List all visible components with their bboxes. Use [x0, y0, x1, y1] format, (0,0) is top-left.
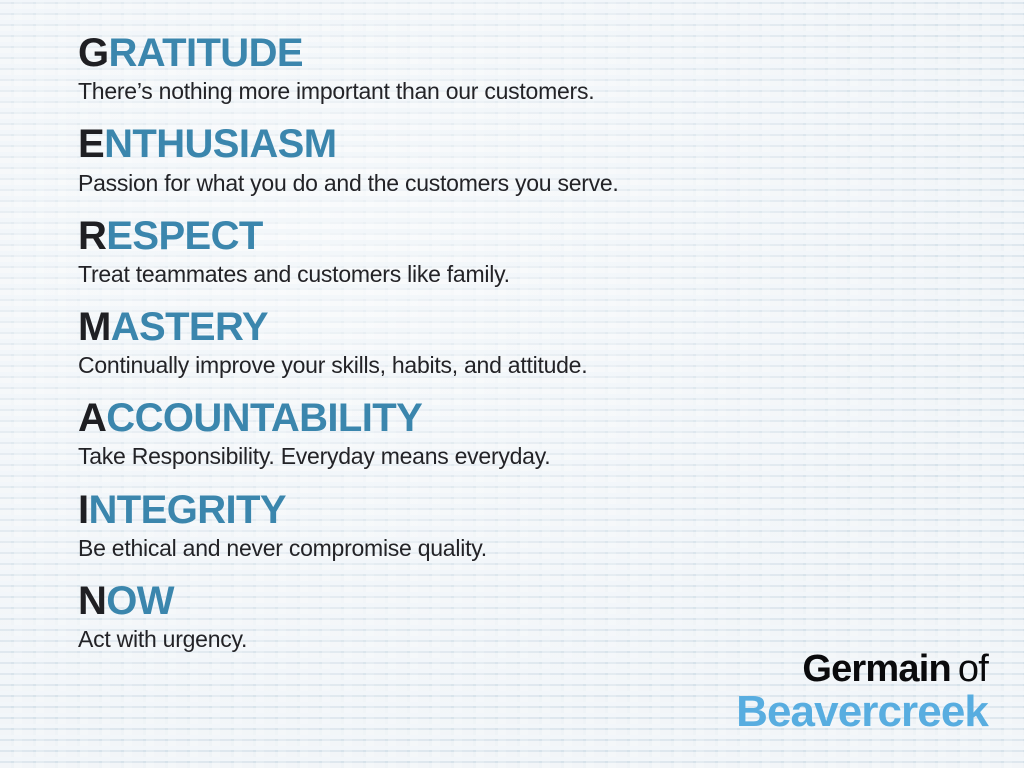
value-rest-letters: RATITUDE [109, 31, 303, 75]
value-description-integrity: Be ethical and never compromise quality. [78, 535, 1024, 562]
value-heading-integrity: INTEGRITY [78, 490, 1024, 531]
value-rest-letters: OW [106, 579, 174, 623]
value-description-gratitude: There’s nothing more important than our … [78, 78, 1024, 105]
value-heading-now: NOW [78, 581, 1024, 622]
value-lead-letter: E [78, 122, 104, 166]
value-rest-letters: ASTERY [111, 305, 268, 349]
logo-location-name: Beavercreek [736, 690, 988, 734]
value-lead-letter: I [78, 488, 89, 532]
value-block-accountability: ACCOUNTABILITY Take Responsibility. Ever… [78, 398, 1024, 470]
logo-brand-name: Germain [802, 648, 951, 690]
slide-canvas: GRATITUDE There’s nothing more important… [0, 0, 1024, 768]
value-block-integrity: INTEGRITY Be ethical and never compromis… [78, 490, 1024, 562]
value-rest-letters: NTEGRITY [89, 488, 286, 532]
value-block-respect: RESPECT Treat teammates and customers li… [78, 216, 1024, 288]
value-description-accountability: Take Responsibility. Everyday means ever… [78, 443, 1024, 470]
value-lead-letter: R [78, 214, 106, 258]
value-lead-letter: A [78, 396, 106, 440]
value-block-gratitude: GRATITUDE There’s nothing more important… [78, 33, 1024, 105]
core-values-list: GRATITUDE There’s nothing more important… [0, 0, 1024, 653]
value-rest-letters: CCOUNTABILITY [106, 396, 422, 440]
value-block-mastery: MASTERY Continually improve your skills,… [78, 307, 1024, 379]
value-block-enthusiasm: ENTHUSIASM Passion for what you do and t… [78, 124, 1024, 196]
value-heading-accountability: ACCOUNTABILITY [78, 398, 1024, 439]
value-heading-gratitude: GRATITUDE [78, 33, 1024, 74]
dealership-logo: Germainof Beavercreek [736, 650, 988, 734]
value-heading-mastery: MASTERY [78, 307, 1024, 348]
logo-top-line: Germainof [736, 650, 988, 688]
value-rest-letters: ESPECT [106, 214, 262, 258]
value-lead-letter: N [78, 579, 106, 623]
logo-connector-word: of [958, 648, 988, 690]
value-description-mastery: Continually improve your skills, habits,… [78, 352, 1024, 379]
value-rest-letters: NTHUSIASM [104, 122, 336, 166]
value-description-enthusiasm: Passion for what you do and the customer… [78, 170, 1024, 197]
value-heading-respect: RESPECT [78, 216, 1024, 257]
value-lead-letter: M [78, 305, 111, 349]
value-block-now: NOW Act with urgency. [78, 581, 1024, 653]
value-heading-enthusiasm: ENTHUSIASM [78, 124, 1024, 165]
value-lead-letter: G [78, 31, 109, 75]
value-description-respect: Treat teammates and customers like famil… [78, 261, 1024, 288]
